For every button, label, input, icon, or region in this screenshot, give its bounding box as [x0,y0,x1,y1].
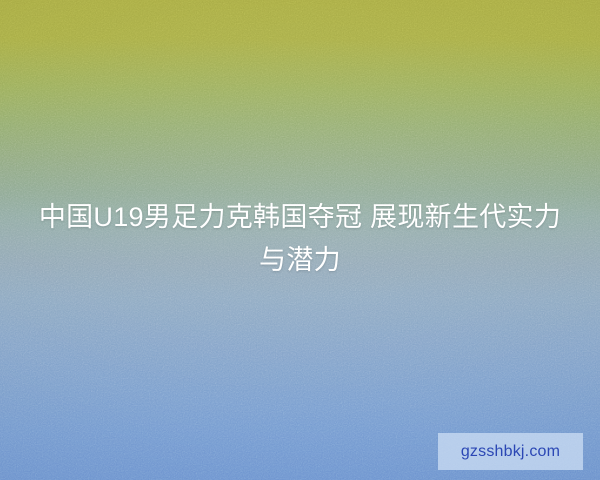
site-watermark-label: gzsshbkj.com [461,444,560,460]
site-watermark-badge: gzsshbkj.com [438,433,583,470]
article-banner: 中国U19男足力克韩国夺冠 展现新生代实力与潜力 gzsshbkj.com [0,0,600,480]
banner-headline: 中国U19男足力克韩国夺冠 展现新生代实力与潜力 [0,196,600,282]
